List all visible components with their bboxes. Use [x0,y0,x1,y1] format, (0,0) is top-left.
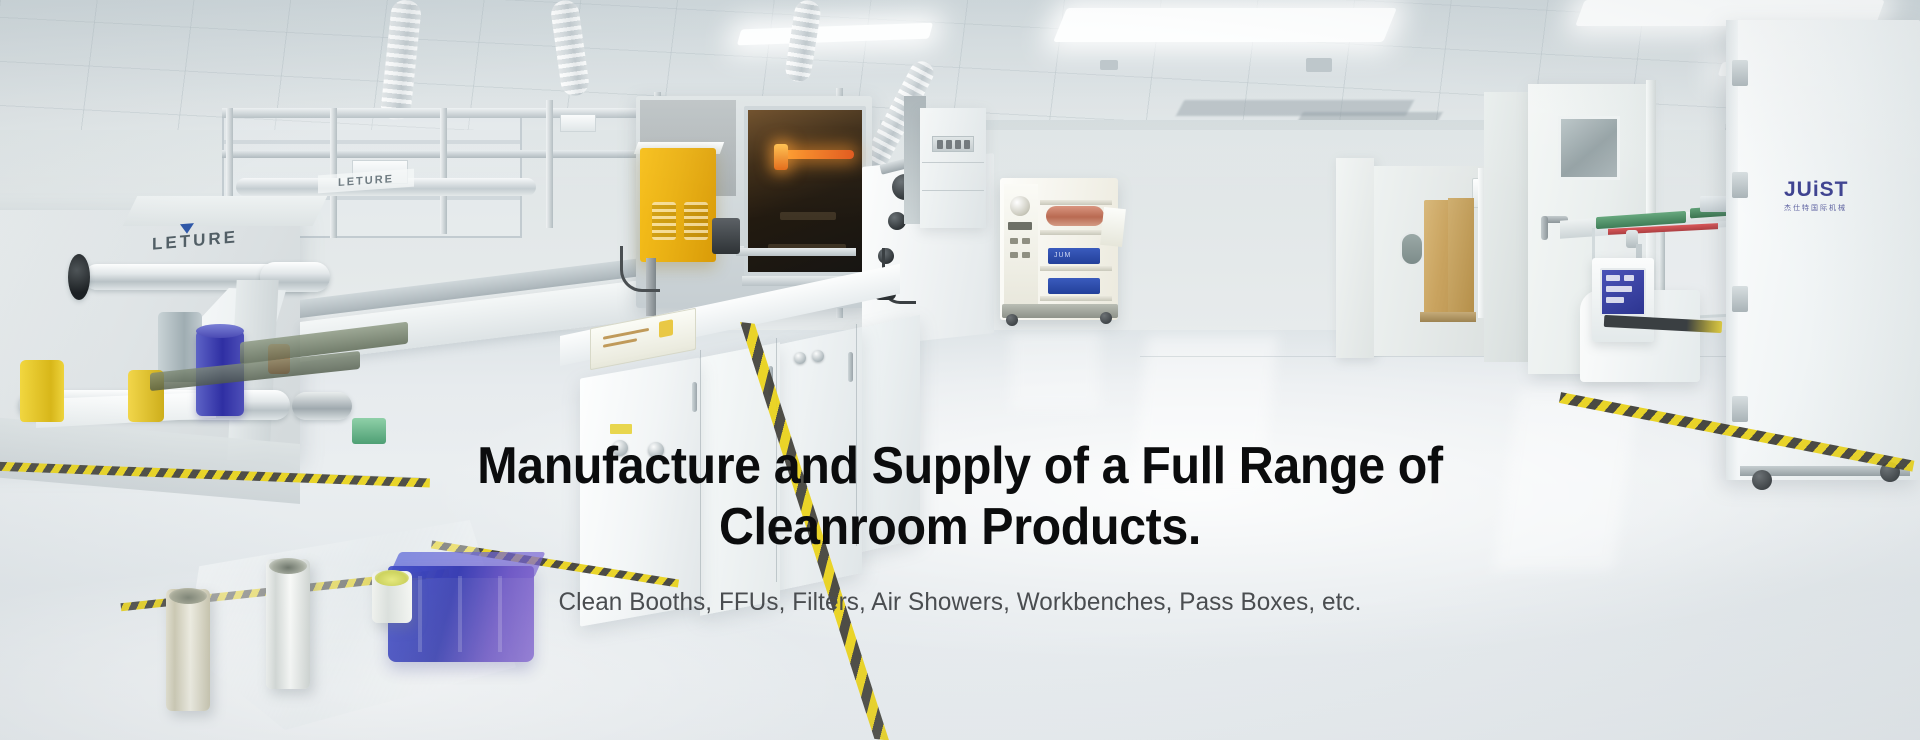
headline-line-1: Manufacture and Supply of a Full Range o… [477,437,1442,495]
hero-subtitle: Clean Booths, FFUs, Filters, Air Showers… [330,588,1591,617]
page-title: Manufacture and Supply of a Full Range o… [356,436,1565,558]
hero-banner: LETURE LETURE [0,0,1920,740]
hero-text-overlay: Manufacture and Supply of a Full Range o… [0,0,1920,740]
headline-line-2: Cleanroom Products. [356,497,1565,558]
